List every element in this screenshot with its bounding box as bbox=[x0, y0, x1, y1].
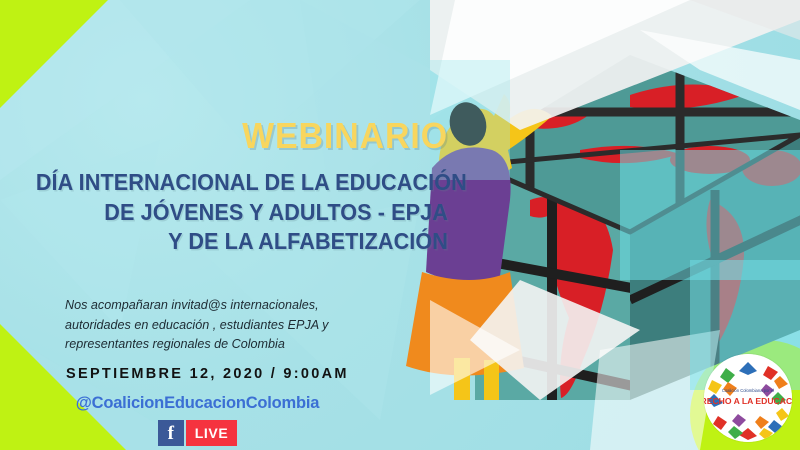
page-title: WEBINARIO bbox=[27, 118, 448, 154]
subtitle: DÍA INTERNACIONAL DE LA EDUCACIÓN DE JÓV… bbox=[36, 168, 448, 257]
logo-top-text: Coalición Colombiana por el bbox=[722, 388, 774, 393]
webinar-promo-poster: WEBINARIO DÍA INTERNACIONAL DE LA EDUCAC… bbox=[0, 0, 800, 450]
description: Nos acompañaran invitad@s internacionale… bbox=[65, 296, 395, 355]
event-datetime: SEPTIEMBRE 12, 2020 / 9:00AM bbox=[66, 366, 349, 382]
subtitle-line-3: Y DE LA ALFABETIZACIÓN bbox=[36, 227, 448, 257]
logo-main-text: DERECHO A LA EDUCACIÓN bbox=[704, 395, 792, 406]
facebook-live-badge[interactable]: f LIVE bbox=[0, 420, 395, 446]
subtitle-line-1: DÍA INTERNACIONAL DE LA EDUCACIÓN bbox=[36, 168, 448, 198]
social-handle[interactable]: @CoalicionEducacionColombia bbox=[0, 394, 395, 413]
subtitle-line-2: DE JÓVENES Y ADULTOS - EPJA bbox=[36, 198, 448, 228]
text-column: WEBINARIO DÍA INTERNACIONAL DE LA EDUCAC… bbox=[0, 0, 470, 450]
description-line-3: representantes regionales de Colombia bbox=[65, 335, 395, 355]
organisation-logo: Coalición Colombiana por el DERECHO A LA… bbox=[704, 354, 792, 442]
live-label[interactable]: LIVE bbox=[186, 420, 238, 446]
description-line-2: autoridades en educación , estudiantes E… bbox=[65, 316, 395, 336]
description-line-1: Nos acompañaran invitad@s internacionale… bbox=[65, 296, 395, 316]
facebook-icon[interactable]: f bbox=[158, 420, 184, 446]
